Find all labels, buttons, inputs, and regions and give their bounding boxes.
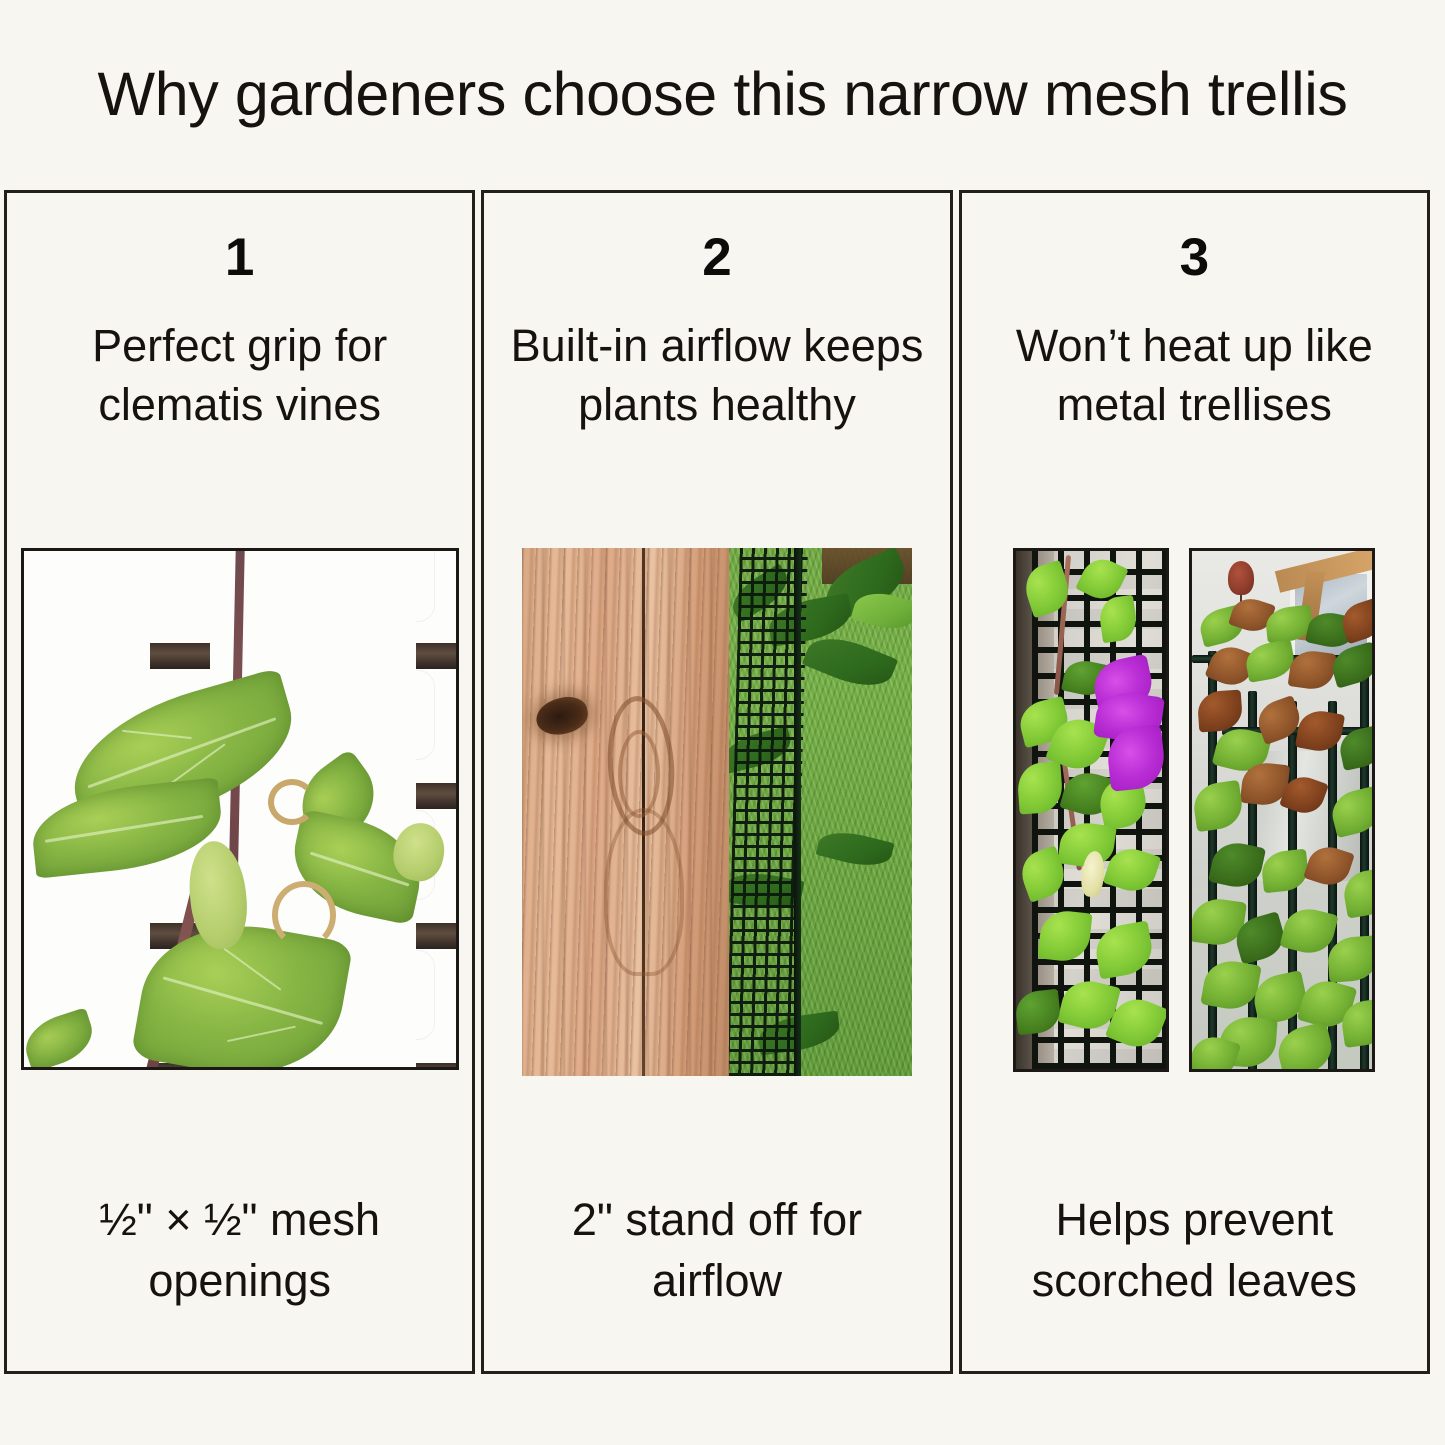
panel-3-number: 3 bbox=[1180, 231, 1209, 284]
panel-3-photo-row bbox=[962, 548, 1427, 1072]
hanging-ornament bbox=[1228, 561, 1254, 595]
wood-grain-swirl bbox=[604, 808, 684, 976]
panel-1-caption-line1: ½" × ½" mesh bbox=[1, 1190, 478, 1250]
photo-clematis-tendril-on-plastic-mesh bbox=[21, 548, 459, 1070]
mesh-trellis-edge bbox=[794, 548, 801, 1076]
panel-3-heading: Won’t heat up like metal trellises bbox=[1016, 316, 1373, 435]
panel-3-caption-line2: scorched leaves bbox=[956, 1251, 1433, 1311]
panel-2: 2 Built-in airflow keeps plants healthy bbox=[481, 190, 952, 1374]
tendril-lower bbox=[272, 881, 336, 949]
panel-1-photo-row bbox=[7, 548, 472, 1070]
panel-1-caption: ½" × ½" mesh openings bbox=[1, 1190, 478, 1311]
panel-2-photo-row bbox=[484, 548, 949, 1076]
panel-2-heading-line1: Built-in airflow keeps bbox=[511, 316, 924, 375]
panel-3-heading-line1: Won’t heat up like bbox=[1016, 316, 1373, 375]
panel-2-number: 2 bbox=[702, 231, 731, 284]
tendril-upper bbox=[268, 779, 316, 825]
panel-2-heading-line2: plants healthy bbox=[511, 375, 924, 434]
photo-metal-trellis-scorched-leaves bbox=[1189, 548, 1375, 1072]
panel-2-caption-line1: 2" stand off for bbox=[478, 1190, 955, 1250]
panel-1: 1 Perfect grip for clematis vines bbox=[4, 190, 475, 1374]
photo-wood-post-with-standoff-mesh bbox=[522, 548, 912, 1076]
panel-3-caption: Helps prevent scorched leaves bbox=[956, 1190, 1433, 1311]
panel-1-number: 1 bbox=[225, 231, 254, 284]
panel-1-heading-line2: clematis vines bbox=[92, 375, 387, 434]
panel-1-heading: Perfect grip for clematis vines bbox=[92, 316, 387, 435]
panel-1-caption-line2: openings bbox=[1, 1251, 478, 1311]
page-title: Why gardeners choose this narrow mesh tr… bbox=[0, 62, 1445, 126]
panel-3: 3 Won’t heat up like metal trellises bbox=[959, 190, 1430, 1374]
wood-grain-oval-inner bbox=[618, 730, 660, 818]
panel-2-caption-line2: airflow bbox=[478, 1251, 955, 1311]
infographic-page: Why gardeners choose this narrow mesh tr… bbox=[0, 0, 1445, 1445]
panel-3-heading-line2: metal trellises bbox=[1016, 375, 1373, 434]
panel-2-caption: 2" stand off for airflow bbox=[478, 1190, 955, 1311]
panel-2-heading: Built-in airflow keeps plants healthy bbox=[511, 316, 924, 435]
wood-knot bbox=[533, 693, 591, 739]
photo-clematis-on-black-plastic-mesh bbox=[1013, 548, 1169, 1072]
panel-1-heading-line1: Perfect grip for bbox=[92, 316, 387, 375]
wooden-post bbox=[522, 548, 729, 1076]
panel-row: 1 Perfect grip for clematis vines bbox=[4, 190, 1430, 1374]
panel-3-caption-line1: Helps prevent bbox=[956, 1190, 1433, 1250]
